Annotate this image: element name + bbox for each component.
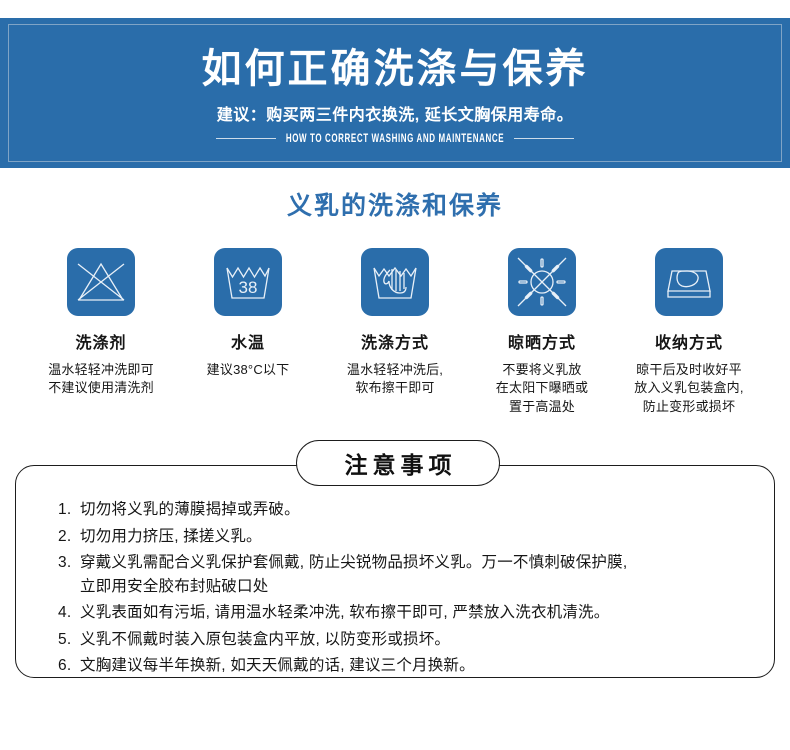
- care-item-desc: 温水轻轻冲洗后, 软布擦干即可: [347, 361, 443, 398]
- list-item: 5. 义乳不佩戴时装入原包装盒内平放, 以防变形或损坏。: [58, 628, 748, 652]
- care-item-water-temp: 38 水温 建议38°C以下: [175, 248, 321, 379]
- notes-badge-label: 注意事项: [340, 446, 457, 480]
- english-caption: HOW TO CORRECT WASHING AND MAINTENANCE: [276, 132, 514, 145]
- list-item-text: 义乳表面如有污垢, 请用温水轻柔冲洗, 软布擦干即可, 严禁放入洗衣机清洗。: [80, 601, 748, 625]
- care-instruction-row: 洗涤剂 温水轻轻冲洗即可 不建议使用清洗剂 38 水温 建议38°C以下: [28, 248, 762, 416]
- care-item-wash-method: 洗涤方式 温水轻轻冲洗后, 软布擦干即可: [322, 248, 468, 398]
- care-item-drying: 晾晒方式 不要将义乳放 在太阳下曝晒或 置于高温处: [469, 248, 615, 416]
- list-item: 3. 穿戴义乳需配合义乳保护套佩戴, 防止尖锐物品损坏义乳。万一不慎刺破保护膜,…: [58, 551, 748, 598]
- no-bleach-triangle-icon: [67, 248, 135, 316]
- list-item-text: 切勿用力挤压, 揉搓义乳。: [80, 525, 748, 549]
- care-item-desc: 温水轻轻冲洗即可 不建议使用清洗剂: [48, 361, 154, 398]
- care-item-title: 晾晒方式: [508, 329, 576, 353]
- water-temp-value: 38: [239, 278, 258, 297]
- list-item: 2. 切勿用力挤压, 揉搓义乳。: [58, 525, 748, 549]
- notes-list: 1. 切勿将义乳的薄膜揭掉或弄破。 2. 切勿用力挤压, 揉搓义乳。 3. 穿戴…: [58, 498, 748, 681]
- care-item-desc: 不要将义乳放 在太阳下曝晒或 置于高温处: [496, 361, 588, 416]
- page-title: 如何正确洗涤与保养: [202, 47, 589, 91]
- header-banner: 如何正确洗涤与保养 建议：购买两三件内衣换洗, 延长文胸保用寿命。 HOW TO…: [0, 18, 790, 168]
- list-item-number: 1.: [58, 498, 80, 522]
- no-sun-drying-icon: [508, 248, 576, 316]
- list-item: 6. 文胸建议每半年换新, 如天天佩戴的话, 建议三个月换新。: [58, 654, 748, 678]
- hand-wash-basin-icon: [361, 248, 429, 316]
- list-item: 1. 切勿将义乳的薄膜揭掉或弄破。: [58, 498, 748, 522]
- care-item-title: 洗涤剂: [75, 329, 126, 353]
- english-caption-row: HOW TO CORRECT WASHING AND MAINTENANCE: [9, 134, 781, 143]
- storage-box-icon: [655, 248, 723, 316]
- list-item-text: 义乳不佩戴时装入原包装盒内平放, 以防变形或损坏。: [80, 628, 748, 652]
- list-item-number: 4.: [58, 601, 80, 625]
- care-item-desc: 晾干后及时收好平 放入义乳包装盒内, 防止变形或损坏: [634, 361, 743, 416]
- care-item-detergent: 洗涤剂 温水轻轻冲洗即可 不建议使用清洗剂: [28, 248, 174, 398]
- care-item-title: 水温: [231, 329, 265, 353]
- header-banner-inner-border: 如何正确洗涤与保养 建议：购买两三件内衣换洗, 延长文胸保用寿命。 HOW TO…: [8, 24, 782, 162]
- list-item-number: 2.: [58, 525, 80, 549]
- page-subtitle: 建议：购买两三件内衣换洗, 延长文胸保用寿命。: [217, 101, 573, 125]
- divider-line-right: [514, 138, 574, 139]
- list-item-number: 6.: [58, 654, 80, 678]
- list-item-text: 文胸建议每半年换新, 如天天佩戴的话, 建议三个月换新。: [80, 654, 748, 678]
- care-item-desc: 建议38°C以下: [207, 361, 290, 379]
- list-item-text: 穿戴义乳需配合义乳保护套佩戴, 防止尖锐物品损坏义乳。万一不慎刺破保护膜, 立即…: [80, 551, 748, 598]
- list-item: 4. 义乳表面如有污垢, 请用温水轻柔冲洗, 软布擦干即可, 严禁放入洗衣机清洗…: [58, 601, 748, 625]
- notes-badge: 注意事项: [296, 440, 500, 486]
- care-item-title: 洗涤方式: [361, 329, 429, 353]
- list-item-number: 3.: [58, 551, 80, 575]
- water-temperature-basin-icon: 38: [214, 248, 282, 316]
- list-item-text: 切勿将义乳的薄膜揭掉或弄破。: [80, 498, 748, 522]
- care-item-title: 收纳方式: [655, 329, 723, 353]
- care-item-storage: 收纳方式 晾干后及时收好平 放入义乳包装盒内, 防止变形或损坏: [616, 248, 762, 416]
- list-item-number: 5.: [58, 628, 80, 652]
- section-title: 义乳的洗涤和保养: [0, 186, 790, 222]
- divider-line-left: [216, 138, 276, 139]
